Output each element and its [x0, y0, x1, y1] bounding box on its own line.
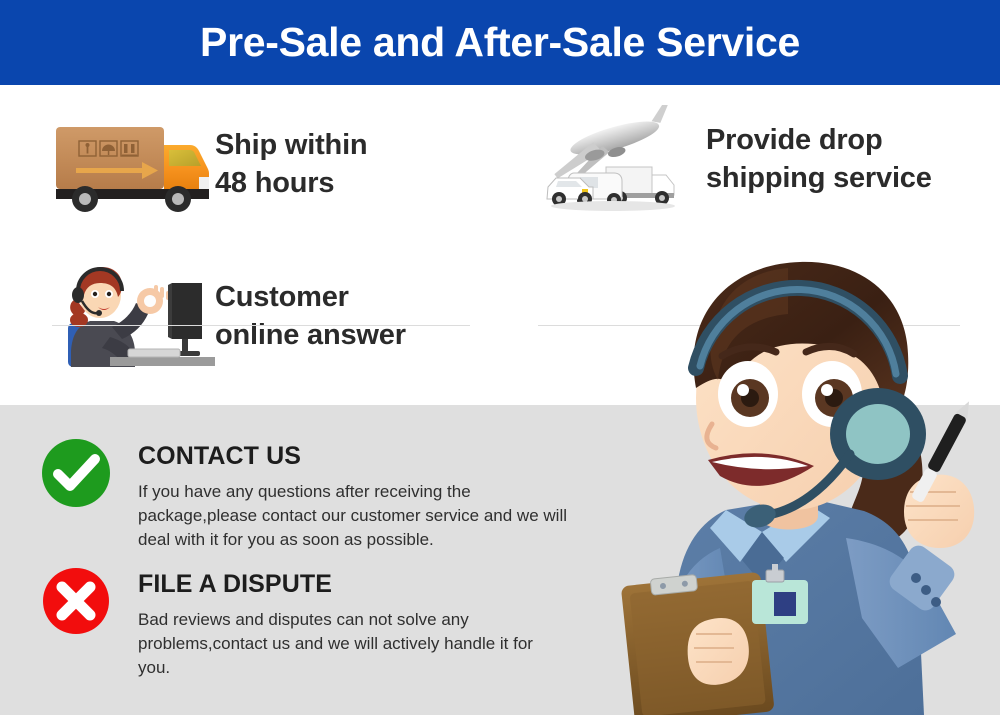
feature-customer-online: Customer online answer	[50, 257, 480, 377]
policy-dispute-line1: Bad reviews and disputes can not solve a…	[138, 608, 533, 632]
feature-ship-label: Ship within 48 hours	[215, 127, 367, 202]
airplane-and-trucks-icon	[538, 105, 688, 215]
policy-contact-line3: deal with it for you as soon as possible…	[138, 528, 567, 552]
policy-dispute-line3: you.	[138, 656, 533, 680]
feature-customer-label: Customer online answer	[215, 279, 406, 354]
page-title: Pre-Sale and After-Sale Service	[200, 22, 800, 63]
feature-customer-line1: Customer	[215, 281, 349, 313]
policy-dispute-desc: Bad reviews and disputes can not solve a…	[138, 608, 533, 680]
feature-drop-shipping: Provide drop shipping service	[538, 100, 978, 220]
policy-section: CONTACT US If you have any questions aft…	[0, 405, 1000, 715]
policy-contact-us: CONTACT US If you have any questions aft…	[40, 437, 660, 552]
feature-drop-line1: Provide drop	[706, 124, 882, 156]
feature-ship-line2: 48 hours	[215, 165, 367, 203]
red-cross-circle-icon	[40, 565, 112, 637]
promo-banner-page: Pre-Sale and After-Sale Service	[0, 0, 1000, 715]
delivery-truck-icon	[50, 115, 215, 215]
page-header: Pre-Sale and After-Sale Service	[0, 0, 1000, 85]
policy-dispute-line2: problems,contact us and we will actively…	[138, 632, 533, 656]
policy-contact-desc: If you have any questions after receivin…	[138, 480, 567, 552]
feature-ship-line1: Ship within	[215, 129, 367, 161]
call-center-agent-desk-icon	[50, 265, 215, 370]
policy-dispute-body: FILE A DISPUTE Bad reviews and disputes …	[138, 565, 533, 680]
policy-file-a-dispute: FILE A DISPUTE Bad reviews and disputes …	[40, 565, 660, 680]
green-check-circle-icon	[40, 437, 112, 509]
policy-contact-body: CONTACT US If you have any questions aft…	[138, 437, 567, 552]
features-section: Ship within 48 hours	[0, 85, 1000, 405]
divider-right	[538, 325, 960, 326]
feature-customer-line2: online answer	[215, 317, 406, 355]
policy-contact-title: CONTACT US	[138, 443, 567, 471]
divider-left	[52, 325, 470, 326]
policy-contact-line2: package,please contact our customer serv…	[138, 504, 567, 528]
policy-dispute-title: FILE A DISPUTE	[138, 571, 533, 599]
feature-drop-line2: shipping service	[706, 160, 932, 198]
feature-drop-label: Provide drop shipping service	[706, 122, 932, 197]
feature-ship-within: Ship within 48 hours	[50, 105, 480, 225]
policy-contact-line1: If you have any questions after receivin…	[138, 480, 567, 504]
